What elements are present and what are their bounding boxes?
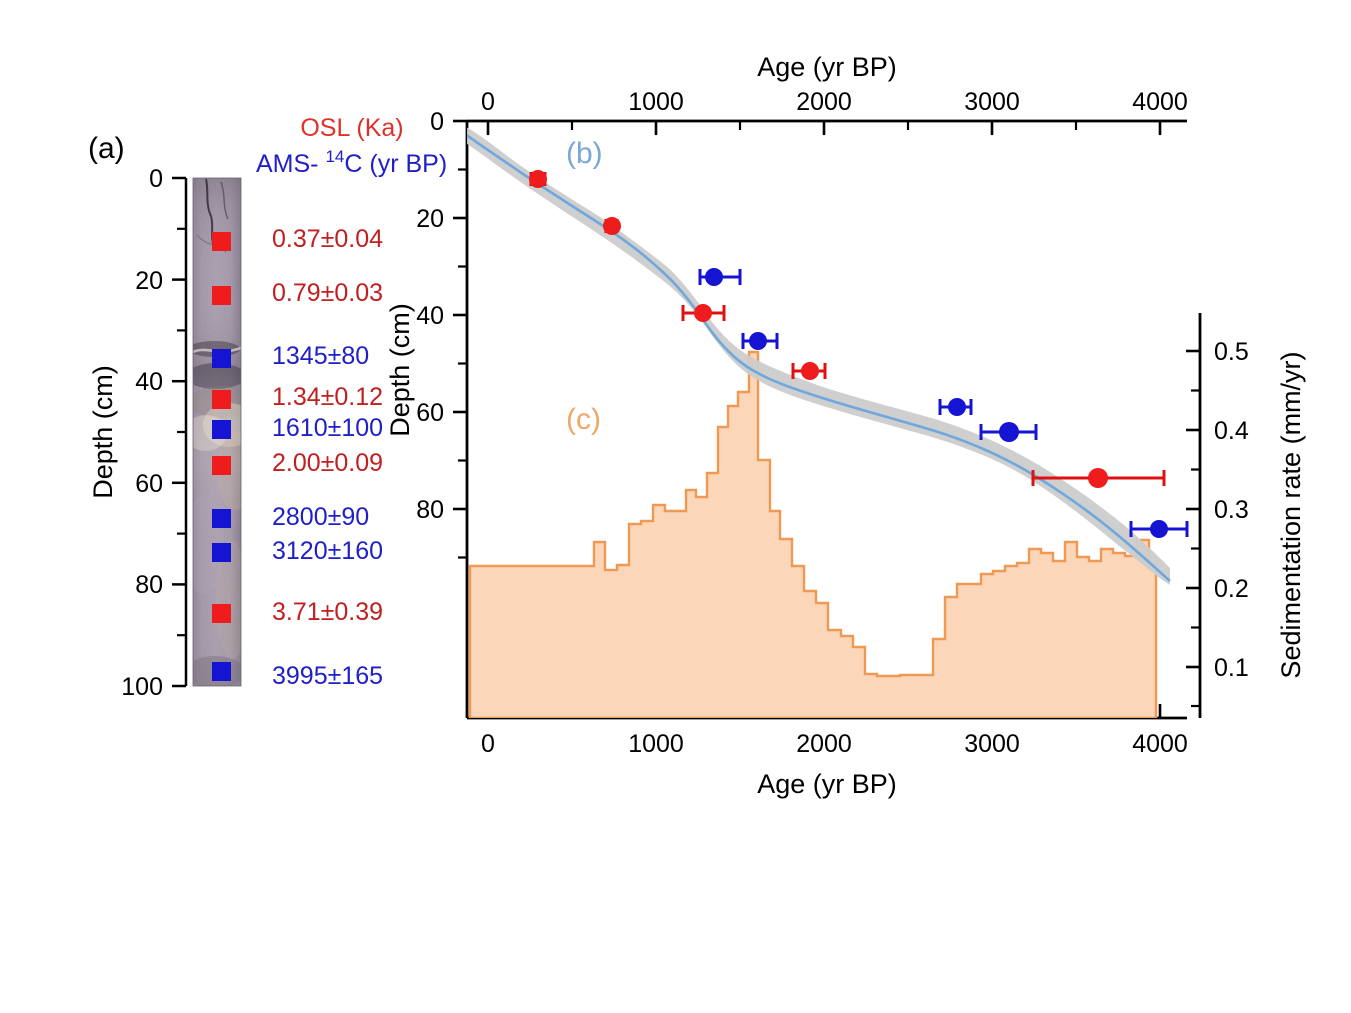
ams-marker-square (212, 509, 231, 528)
panel-a-tick-40: 40 (135, 368, 163, 396)
ams-point-1 (743, 332, 777, 350)
legend-ams-superscript: 14 (325, 147, 344, 166)
ams-marker-dot (705, 268, 723, 286)
bottom-tick-3000: 3000 (964, 730, 1020, 758)
panel-a-depth-axis (172, 178, 186, 686)
bottom-tick-4000: 4000 (1132, 730, 1188, 758)
osl-marker-dot (801, 362, 819, 380)
osl-point-3 (793, 362, 825, 380)
core-marker-label-2: 1345±80 (272, 342, 369, 370)
ams-marker-dot (999, 422, 1019, 442)
core-marker-label-7: 3120±160 (272, 537, 383, 565)
uncertainty-band (457, 123, 1170, 585)
panel-a-tick-60: 60 (135, 470, 163, 498)
osl-marker-square (212, 456, 231, 475)
core-marker-label-0: 0.37±0.04 (272, 225, 383, 253)
right-axis-title: Sedimentation rate (mm/yr) (1276, 351, 1306, 678)
left-tick-40: 40 (416, 302, 444, 330)
legend-ams-suffix: C (yr BP) (344, 150, 447, 178)
right-tick-03: 0.3 (1214, 496, 1249, 524)
core-marker-label-4: 1610±100 (272, 414, 383, 442)
ams-marker-dot (948, 398, 966, 416)
osl-marker-dot (694, 304, 712, 322)
top-tick-1000: 1000 (628, 88, 684, 116)
osl-marker-square (212, 390, 231, 409)
osl-marker-dot (603, 217, 621, 235)
osl-point-2 (683, 304, 724, 322)
panel-a-tick-100: 100 (121, 673, 163, 701)
right-tick-05: 0.5 (1214, 338, 1249, 366)
ams-marker-square (212, 349, 231, 368)
right-tick-02: 0.2 (1214, 575, 1249, 603)
top-axis-title: Age (yr BP) (757, 52, 897, 82)
left-tick-60: 60 (416, 399, 444, 427)
legend-ams-title: AMS- 14C (yr BP) (256, 147, 447, 178)
osl-marker-square (212, 286, 231, 305)
top-tick-3000: 3000 (964, 88, 1020, 116)
legend-osl-title: OSL (Ka) (300, 114, 403, 142)
panel-a-label: (a) (88, 132, 125, 165)
right-tick-04: 0.4 (1214, 417, 1249, 445)
core-marker-label-8: 3.71±0.39 (272, 598, 383, 626)
core-marker-label-9: 3995±165 (272, 662, 383, 690)
bottom-tick-0: 0 (481, 730, 495, 758)
bottom-tick-1000: 1000 (628, 730, 684, 758)
top-tick-2000: 2000 (796, 88, 852, 116)
core-marker-label-3: 1.34±0.12 (272, 383, 383, 411)
age-depth-model (457, 123, 1170, 585)
bottom-tick-2000: 2000 (796, 730, 852, 758)
ams-point-0 (700, 268, 740, 286)
panel-a-tick-80: 80 (135, 571, 163, 599)
ams-point-4 (1131, 520, 1187, 538)
left-tick-0: 0 (430, 108, 444, 136)
ams-marker-square (212, 420, 231, 439)
osl-marker-dot (1088, 468, 1108, 488)
top-tick-4000: 4000 (1132, 88, 1188, 116)
ams-marker-dot (1150, 520, 1168, 538)
osl-marker-square (212, 232, 231, 251)
osl-marker-square (212, 604, 231, 623)
left-axis-title: Depth (cm) (385, 303, 415, 437)
left-tick-80: 80 (416, 496, 444, 524)
panel-a-axis-title: Depth (cm) (88, 365, 118, 499)
panel-b-top-axis: Age (yr BP) 0 1000 2000 3000 4000 (481, 52, 1188, 135)
core-marker-label-1: 0.79±0.03 (272, 279, 383, 307)
right-tick-01: 0.1 (1214, 654, 1249, 682)
top-tick-0: 0 (481, 88, 495, 116)
panel-c-label: (c) (566, 403, 601, 436)
figure-svg: (a) 0 20 40 60 80 100 Depth (cm) (0, 0, 1351, 1013)
core-marker-label-6: 2800±90 (272, 503, 369, 531)
ams-marker-square (212, 543, 231, 562)
ams-point-2 (940, 398, 971, 416)
dating-points (529, 170, 1187, 538)
panel-a-tick-20: 20 (135, 267, 163, 295)
core-marker-label-5: 2.00±0.09 (272, 449, 383, 477)
osl-point-0 (529, 170, 547, 188)
figure-canvas: (a) 0 20 40 60 80 100 Depth (cm) (0, 0, 1351, 1013)
osl-point-1 (603, 217, 621, 235)
ams-point-3 (981, 422, 1036, 442)
ams-marker-square (212, 662, 231, 681)
panel-b-label: (b) (566, 137, 603, 170)
svg-text:AMS- 14C (yr BP): AMS- 14C (yr BP) (256, 147, 447, 178)
panel-c-right-axis: 0.5 0.4 0.3 0.2 0.1 Sedimentation rate (… (1186, 313, 1306, 718)
panel-a-tick-0: 0 (149, 165, 163, 193)
bottom-axis-title: Age (yr BP) (757, 769, 897, 799)
legend-ams-prefix: AMS- (256, 150, 325, 178)
left-tick-20: 20 (416, 205, 444, 233)
ams-marker-dot (749, 332, 767, 350)
osl-marker-dot (529, 170, 547, 188)
